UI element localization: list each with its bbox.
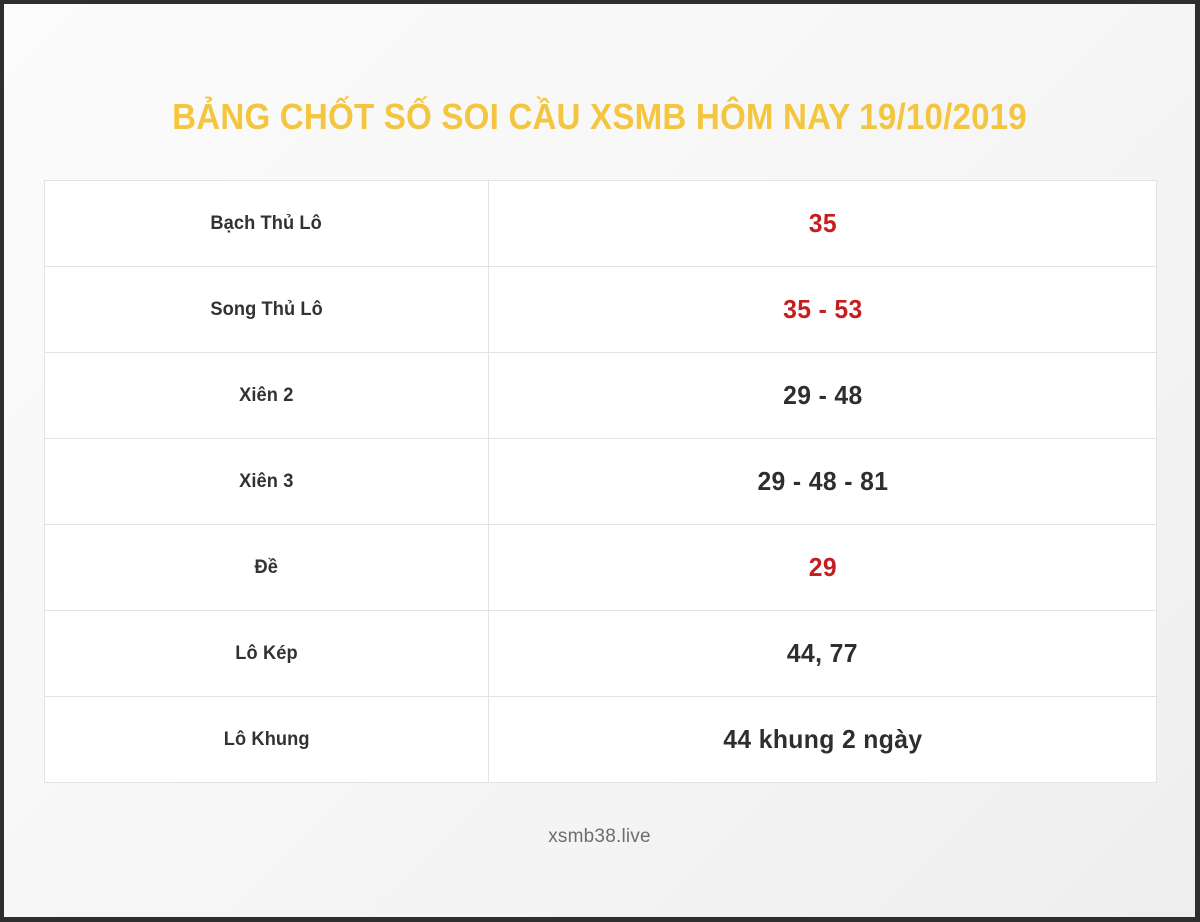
row-value-text: 29 — [808, 552, 836, 583]
row-label-cell: Lô Kép — [45, 611, 489, 697]
row-label-text: Xiên 3 — [239, 471, 293, 493]
row-label-text: Song Thủ Lô — [210, 299, 323, 321]
row-value-cell: 29 — [489, 525, 1157, 611]
row-value-text: 29 - 48 - 81 — [757, 466, 888, 497]
prediction-table-body: Bạch Thủ Lô35Song Thủ Lô35 - 53Xiên 229 … — [45, 181, 1157, 783]
prediction-table: Bạch Thủ Lô35Song Thủ Lô35 - 53Xiên 229 … — [44, 180, 1157, 783]
row-value-text: 35 — [808, 208, 836, 239]
prediction-table-container: Bạch Thủ Lô35Song Thủ Lô35 - 53Xiên 229 … — [44, 180, 1156, 783]
row-value-cell: 35 — [489, 181, 1157, 267]
row-label-text: Lô Khung — [224, 729, 310, 751]
page-title: BẢNG CHỐT SỐ SOI CẦU XSMB HÔM NAY 19/10/… — [172, 96, 1027, 138]
table-row: Lô Khung44 khung 2 ngày — [45, 697, 1157, 783]
row-label-cell: Đề — [45, 525, 489, 611]
row-value-cell: 29 - 48 - 81 — [489, 439, 1157, 525]
table-row: Bạch Thủ Lô35 — [45, 181, 1157, 267]
table-row: Lô Kép44, 77 — [45, 611, 1157, 697]
table-row: Xiên 329 - 48 - 81 — [45, 439, 1157, 525]
page-canvas: BẢNG CHỐT SỐ SOI CẦU XSMB HÔM NAY 19/10/… — [4, 4, 1195, 917]
row-value-text: 35 - 53 — [783, 294, 863, 325]
row-value-cell: 29 - 48 — [489, 353, 1157, 439]
table-row: Xiên 229 - 48 — [45, 353, 1157, 439]
row-label-text: Xiên 2 — [239, 385, 293, 407]
row-label-cell: Song Thủ Lô — [45, 267, 489, 353]
row-label-text: Bạch Thủ Lô — [211, 213, 323, 235]
row-value-cell: 44 khung 2 ngày — [489, 697, 1157, 783]
table-row: Song Thủ Lô35 - 53 — [45, 267, 1157, 353]
row-label-text: Đề — [255, 557, 279, 579]
row-label-cell: Lô Khung — [45, 697, 489, 783]
row-label-cell: Xiên 2 — [45, 353, 489, 439]
row-value-cell: 35 - 53 — [489, 267, 1157, 353]
row-value-cell: 44, 77 — [489, 611, 1157, 697]
row-value-text: 44, 77 — [787, 638, 858, 669]
row-value-text: 44 khung 2 ngày — [723, 724, 922, 755]
footer-site-label: xsmb38.live — [4, 826, 1195, 848]
row-label-cell: Xiên 3 — [45, 439, 489, 525]
image-frame: BẢNG CHỐT SỐ SOI CẦU XSMB HÔM NAY 19/10/… — [0, 0, 1200, 922]
row-label-text: Lô Kép — [235, 643, 297, 665]
row-label-cell: Bạch Thủ Lô — [45, 181, 489, 267]
table-row: Đề29 — [45, 525, 1157, 611]
page-title-container: BẢNG CHỐT SỐ SOI CẦU XSMB HÔM NAY 19/10/… — [4, 96, 1195, 138]
row-value-text: 29 - 48 — [783, 380, 863, 411]
